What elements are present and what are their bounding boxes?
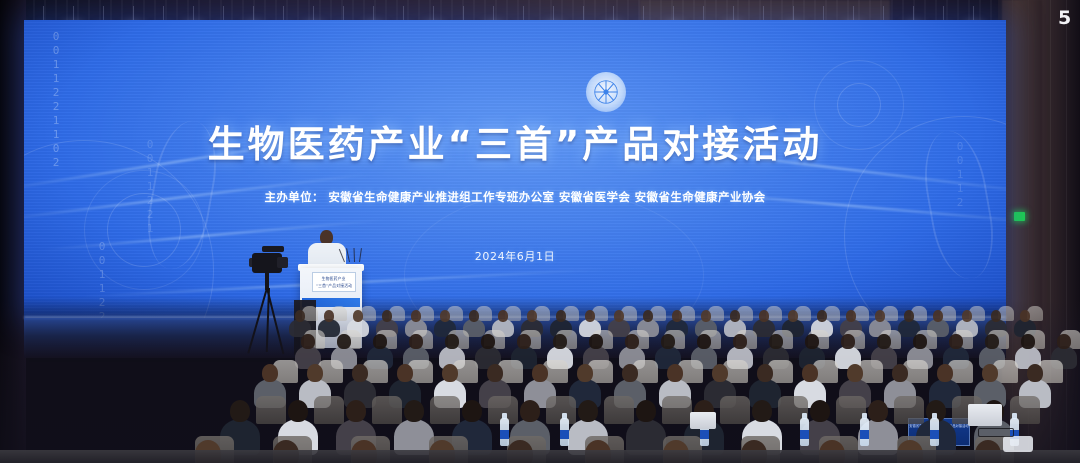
audience-head xyxy=(527,310,538,322)
audience-head xyxy=(846,310,857,322)
conference-chair xyxy=(256,396,287,424)
eyeglasses xyxy=(978,428,1014,437)
audience-head xyxy=(397,364,413,382)
water-bottle xyxy=(800,418,809,446)
audience-head xyxy=(625,334,638,349)
audience-head xyxy=(875,310,886,322)
audience-head xyxy=(817,310,828,322)
audience-head xyxy=(382,310,393,322)
bottle-label xyxy=(860,430,869,439)
audience-head xyxy=(788,310,799,322)
audience-head xyxy=(404,400,424,422)
audience-head xyxy=(904,310,915,322)
podium-sign-line-2: “三首”产品对接活动 xyxy=(316,282,352,289)
audience-head xyxy=(440,310,451,322)
audience-head xyxy=(262,364,278,382)
water-bottle xyxy=(560,418,569,446)
audience-head xyxy=(288,400,308,422)
audience-head xyxy=(769,334,782,349)
bottle-label xyxy=(700,430,709,439)
audience-head xyxy=(553,334,566,349)
audience-head xyxy=(520,400,540,422)
audience-head xyxy=(469,310,480,322)
audience-head xyxy=(712,364,728,382)
conference-hall-screenshot: 0011221102 001122 0011221 00112 xyxy=(0,0,1080,463)
audience-head xyxy=(409,334,422,349)
audience-head xyxy=(487,364,503,382)
audience-head xyxy=(933,310,944,322)
audience-head xyxy=(802,364,818,382)
water-bottle xyxy=(500,418,509,446)
audience-head xyxy=(498,310,509,322)
audience-head xyxy=(643,310,654,322)
podium-microphones xyxy=(344,248,366,262)
audience-head xyxy=(985,334,998,349)
audience-head xyxy=(733,334,746,349)
audience-head xyxy=(445,334,458,349)
audience-head xyxy=(373,334,386,349)
audience-head xyxy=(982,364,998,382)
audience-head xyxy=(462,400,482,422)
microphone xyxy=(359,248,362,262)
audience-head xyxy=(892,364,908,382)
audience-head xyxy=(805,334,818,349)
audience-head xyxy=(577,364,593,382)
audience-head xyxy=(701,310,712,322)
audience-area: 安徽省生命健康产业“三首”产品对接活动 谢栋栋 xyxy=(0,300,1080,463)
led-stage-screen: 0011221102 001122 0011221 00112 xyxy=(24,20,1006,320)
audience-head xyxy=(1057,334,1070,349)
audience-head xyxy=(949,334,962,349)
audience-head xyxy=(991,310,1002,322)
conference-chair xyxy=(372,396,403,424)
audience-head xyxy=(667,364,683,382)
audience-head xyxy=(614,310,625,322)
audience-head xyxy=(868,400,888,422)
conference-chair xyxy=(894,396,925,424)
audience-head xyxy=(295,310,306,322)
audience-head xyxy=(230,400,250,422)
audience-head xyxy=(352,364,368,382)
corner-overlay-glyph: 5 xyxy=(1058,6,1080,30)
audience-head xyxy=(877,334,890,349)
led-vignette xyxy=(24,20,1006,320)
audience-head xyxy=(810,400,830,422)
camera-top-handle xyxy=(262,246,284,252)
conference-chair xyxy=(604,396,635,424)
audience-head xyxy=(759,310,770,322)
podium-sign-line-1: 生物医药产业 xyxy=(322,275,346,282)
audience-head xyxy=(585,310,596,322)
audience-head xyxy=(532,364,548,382)
audience-head xyxy=(937,364,953,382)
microphone xyxy=(346,248,350,262)
camera-lens xyxy=(277,257,288,268)
audience-head xyxy=(913,334,926,349)
bottle-label xyxy=(800,430,809,439)
audience-head xyxy=(730,310,741,322)
audience-head xyxy=(324,310,335,322)
laptop xyxy=(968,404,1002,426)
conference-chair xyxy=(314,396,345,424)
exit-sign xyxy=(1014,212,1025,221)
conference-chair xyxy=(662,396,693,424)
microphone xyxy=(354,248,355,262)
audience-head xyxy=(661,334,674,349)
audience-head xyxy=(346,400,366,422)
audience-head xyxy=(578,400,598,422)
audience-head xyxy=(353,310,364,322)
audience-head xyxy=(1020,310,1031,322)
water-bottle xyxy=(930,418,939,446)
audience-head xyxy=(411,310,422,322)
audience-head xyxy=(636,400,656,422)
audience-head xyxy=(672,310,683,322)
laptop xyxy=(690,412,716,429)
audience-head xyxy=(589,334,602,349)
face-mask xyxy=(1003,436,1033,452)
audience-head xyxy=(757,364,773,382)
audience-head xyxy=(337,334,350,349)
audience-head xyxy=(442,364,458,382)
audience-head xyxy=(307,364,323,382)
water-bottle xyxy=(860,418,869,446)
podium-sign: 生物医药产业 “三首”产品对接活动 xyxy=(312,272,356,292)
audience-head xyxy=(556,310,567,322)
audience-head xyxy=(847,364,863,382)
audience-head xyxy=(697,334,710,349)
audience-table xyxy=(0,450,1080,463)
bottle-label xyxy=(560,430,569,439)
bottle-label xyxy=(500,430,509,439)
audience-head xyxy=(481,334,494,349)
audience-head xyxy=(301,334,314,349)
conference-chair xyxy=(430,396,461,424)
audience-head xyxy=(962,310,973,322)
audience-head xyxy=(841,334,854,349)
audience-head xyxy=(1021,334,1034,349)
audience-head xyxy=(517,334,530,349)
audience-head xyxy=(622,364,638,382)
bottle-label xyxy=(930,430,939,439)
audience-head xyxy=(1027,364,1043,382)
conference-chair xyxy=(720,396,751,424)
audience-head xyxy=(752,400,772,422)
